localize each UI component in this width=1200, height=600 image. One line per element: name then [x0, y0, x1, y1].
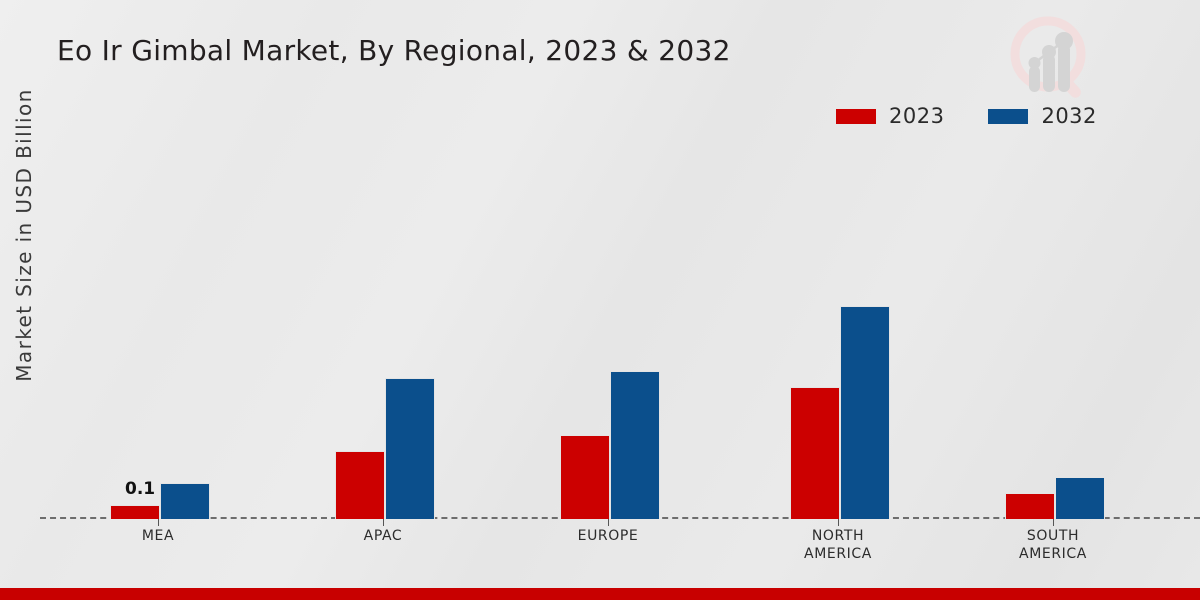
bar-south-america-2023[interactable] [1005, 493, 1055, 519]
bar-north-america-2032[interactable] [840, 306, 890, 519]
bar-group-south-america: SOUTH AMERICA [1005, 150, 1101, 519]
x-label-apac: APAC [298, 527, 468, 545]
x-label-apac-line1: APAC [298, 527, 468, 545]
x-label-north-america-line1: NORTH [753, 527, 923, 545]
x-label-europe: EUROPE [523, 527, 693, 545]
page-title: Eo Ir Gimbal Market, By Regional, 2023 &… [57, 34, 731, 67]
legend-swatch-2032 [988, 109, 1028, 124]
bar-pair-europe [560, 150, 660, 519]
bar-north-america-2023[interactable] [790, 387, 840, 519]
x-tick-mea [158, 519, 159, 526]
x-tick-south-america [1053, 519, 1054, 526]
bar-mea-2023[interactable] [110, 505, 160, 519]
bar-apac-2032[interactable] [385, 378, 435, 519]
x-tick-north-america [838, 519, 839, 526]
bar-south-america-2032[interactable] [1055, 477, 1105, 519]
bar-mea-2032[interactable] [160, 483, 210, 519]
x-tick-apac [383, 519, 384, 526]
footer-accent-bar [0, 588, 1200, 600]
bar-pair-north-america [790, 150, 890, 519]
bar-pair-south-america [1005, 150, 1105, 519]
bar-group-europe: EUROPE [560, 150, 656, 519]
bar-pair-apac [335, 150, 435, 519]
legend-swatch-2023 [836, 109, 876, 124]
x-label-south-america-line1: SOUTH [968, 527, 1138, 545]
bar-group-north-america: NORTH AMERICA [790, 150, 886, 519]
x-label-north-america-line2: AMERICA [753, 545, 923, 563]
bar-group-mea: 0.1 MEA [110, 150, 206, 519]
legend-item-2023[interactable]: 2023 [836, 104, 944, 128]
bar-europe-2023[interactable] [560, 435, 610, 519]
x-label-south-america: SOUTH AMERICA [968, 527, 1138, 563]
legend-label-2023: 2023 [889, 104, 944, 128]
bar-europe-2032[interactable] [610, 371, 660, 519]
market-research-magnifier-logo-icon [998, 8, 1102, 108]
x-label-mea: MEA [73, 527, 243, 545]
x-tick-europe [608, 519, 609, 526]
bar-value-label-mea-2023: 0.1 [125, 479, 155, 499]
x-label-mea-line1: MEA [73, 527, 243, 545]
x-label-europe-line1: EUROPE [523, 527, 693, 545]
chart-figure: Eo Ir Gimbal Market, By Regional, 2023 &… [0, 0, 1200, 600]
y-axis-title: Market Size in USD Billion [12, 65, 36, 405]
x-label-north-america: NORTH AMERICA [753, 527, 923, 563]
plot-area: 0.1 MEA APAC EUROPE [40, 150, 1200, 519]
chart-legend: 2023 2032 [836, 104, 1097, 128]
bar-apac-2023[interactable] [335, 451, 385, 519]
legend-label-2032: 2032 [1041, 104, 1096, 128]
bar-pair-mea [110, 150, 210, 519]
bar-group-apac: APAC [335, 150, 431, 519]
x-label-south-america-line2: AMERICA [968, 545, 1138, 563]
legend-item-2032[interactable]: 2032 [988, 104, 1096, 128]
